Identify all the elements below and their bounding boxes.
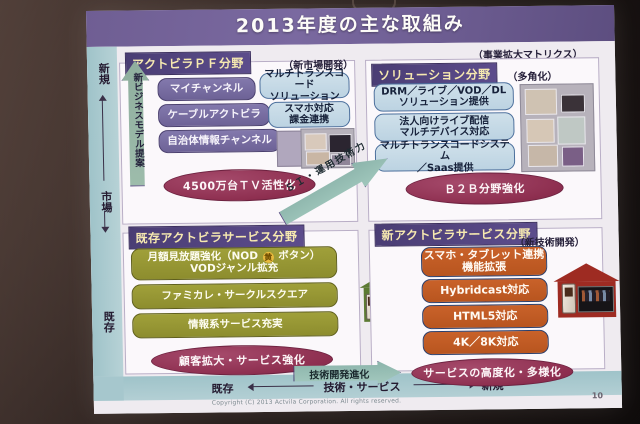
axis-label-tech-existing: 既存 (211, 380, 233, 396)
photo-thumb (305, 133, 327, 150)
axis-label-market-new: 新規 (95, 63, 111, 85)
slide-page-number: 10 (592, 391, 603, 400)
item-smartphone-billing[interactable]: スマホ対応 課金連携 (268, 101, 351, 128)
photo-thumb (557, 116, 586, 144)
item-cable-actvila[interactable]: ケーブルアクトビラ (158, 103, 270, 127)
quadrant-note-solution: （多角化） (507, 68, 557, 84)
item-smartphone-tablet-link[interactable]: スマホ・タブレット連携 機能拡張 (421, 246, 548, 277)
item-drm-live-vod-dl[interactable]: DRM／ライブ／VOD／DL ソリューション提供 (374, 82, 515, 112)
item-municipal-channel[interactable]: 自治体情報チャンネル (158, 129, 280, 153)
house-remote (562, 283, 577, 313)
axis-vertical-arrow-up (99, 95, 107, 101)
item-corporate-live-delivery[interactable]: 法人向けライブ配信 マルチデバイス対応 (374, 112, 515, 142)
presentation-slide: 2013年度の主な取組み 新規 市場 既存 既存 技術・サービス 新規 （事業拡… (86, 5, 622, 414)
item-multi-transcode-solution-line1: マルチトランスコード (260, 68, 348, 91)
item-smartphone-billing-line1: スマホ対応 (284, 103, 334, 115)
item-transcode-saas-line1: マルチトランスコードシステム (376, 139, 514, 163)
item-smartphone-billing-line2: 課金連携 (289, 114, 329, 126)
item-my-channel[interactable]: マイチャンネル (157, 77, 255, 101)
item-famicale-circlesquare[interactable]: ファミカレ・サークルスクエア (131, 282, 337, 309)
photo-thumb (526, 119, 554, 143)
axis-horizontal-arrow-left (248, 383, 254, 391)
photo-thumb (562, 146, 584, 166)
arrow-new-business-model-label: 新ビジネスモデル提案 (125, 72, 145, 167)
photo-thumb (528, 145, 558, 167)
quadrant-header-existing-service: 既存アクトビラサービス分野 (128, 225, 304, 250)
red-house-illustration (553, 263, 620, 318)
photo-thumb (525, 89, 558, 115)
item-transcode-saas[interactable]: マルチトランスコードシステム ／Saas提供 (375, 142, 516, 172)
house-tv-screen (578, 286, 615, 312)
projection-room: 2013年度の主な取組み 新規 市場 既存 既存 技術・サービス 新規 （事業拡… (0, 0, 640, 424)
item-html5[interactable]: HTML5対応 (422, 304, 548, 329)
item-multi-transcode-solution[interactable]: マルチトランスコード ソリューション (259, 72, 350, 99)
item-4k-8k[interactable]: 4K／8K対応 (422, 330, 548, 355)
house-roof (553, 263, 619, 282)
solution-photo-collage (520, 83, 596, 172)
item-corporate-live-delivery-line2: マルチデバイス対応 (400, 126, 490, 138)
item-monthly-unlimited-nod[interactable]: 月額見放題強化（NOD 黄 ボタン） VODジャンル拡充 (131, 246, 338, 280)
item-hybridcast[interactable]: Hybridcast対応 (421, 278, 547, 303)
axis-label-market: 市場 (98, 191, 114, 213)
quadrant-header-actvila-pf: アクトビラＰＦ分野 (125, 51, 251, 75)
item-information-service[interactable]: 情報系サービス充実 (132, 311, 338, 338)
photo-thumb (561, 94, 585, 112)
axis-corner (93, 377, 123, 401)
item-monthly-unlimited-nod-line2: VODジャンル拡充 (190, 263, 278, 276)
item-smartphone-tablet-link-line2: 機能拡張 (462, 261, 506, 274)
item-drm-live-vod-dl-line2: ソリューション提供 (399, 96, 489, 108)
arrow-tech-development-evolution-label: 技術開発進化 (299, 366, 379, 382)
axis-label-market-existing: 既存 (100, 311, 116, 333)
